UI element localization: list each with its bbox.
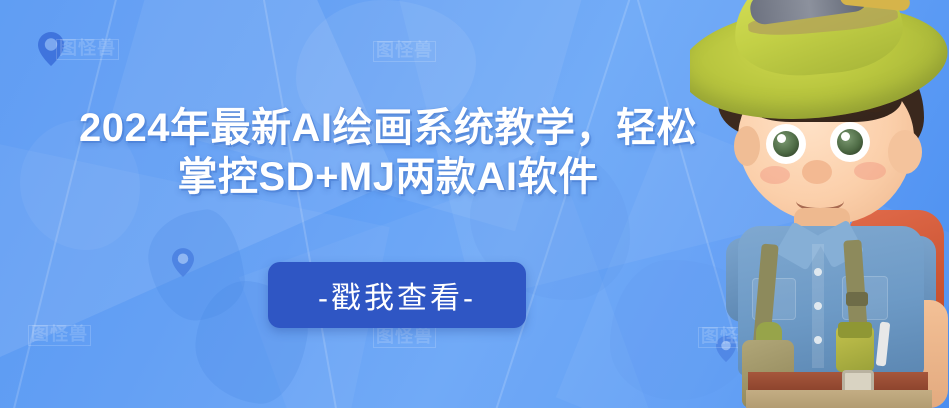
background-line	[0, 0, 130, 408]
belt	[748, 372, 928, 392]
ear	[734, 126, 760, 166]
eye	[830, 122, 870, 162]
watermark-text: 图怪兽	[56, 39, 119, 60]
shirt-button	[814, 302, 822, 310]
strap-buckle	[846, 292, 868, 306]
shirt-button	[814, 336, 822, 344]
watermark: 图怪兽	[56, 38, 121, 60]
eye	[766, 124, 806, 164]
watermark: 图怪兽	[373, 40, 438, 62]
watermark: 图怪兽	[373, 326, 438, 348]
cheek-blush	[854, 162, 886, 180]
explorer-boy-illustration	[690, 0, 949, 408]
watermark: 图怪兽	[28, 324, 93, 346]
cta-button-label: -戳我查看-	[318, 273, 476, 317]
eye-highlight	[777, 134, 786, 143]
shirt-button	[814, 268, 822, 276]
cheek-blush	[760, 166, 790, 184]
background-line	[474, 0, 649, 408]
map-continent-shape	[141, 205, 250, 327]
ear	[888, 130, 922, 174]
belt-pouch-flap	[838, 322, 872, 338]
cta-button[interactable]: -戳我查看-	[268, 262, 526, 328]
watermark-text: 图怪兽	[373, 41, 436, 62]
eye-highlight	[841, 132, 850, 141]
background-line	[250, 0, 353, 408]
watermark-text: 图怪兽	[28, 325, 91, 346]
watermark-text: 图怪兽	[373, 327, 436, 348]
map-pin-icon	[38, 32, 64, 71]
page-title: 2024年最新AI绘画系统教学，轻松 掌控SD+MJ两款AI软件	[58, 104, 718, 202]
map-pin-icon	[172, 248, 194, 282]
promo-banner: 图怪兽 图怪兽 图怪兽 图怪兽 图怪兽 图怪兽 2024年最新AI绘画系统教学，…	[0, 0, 949, 408]
nose	[802, 160, 832, 184]
shorts	[746, 390, 932, 408]
